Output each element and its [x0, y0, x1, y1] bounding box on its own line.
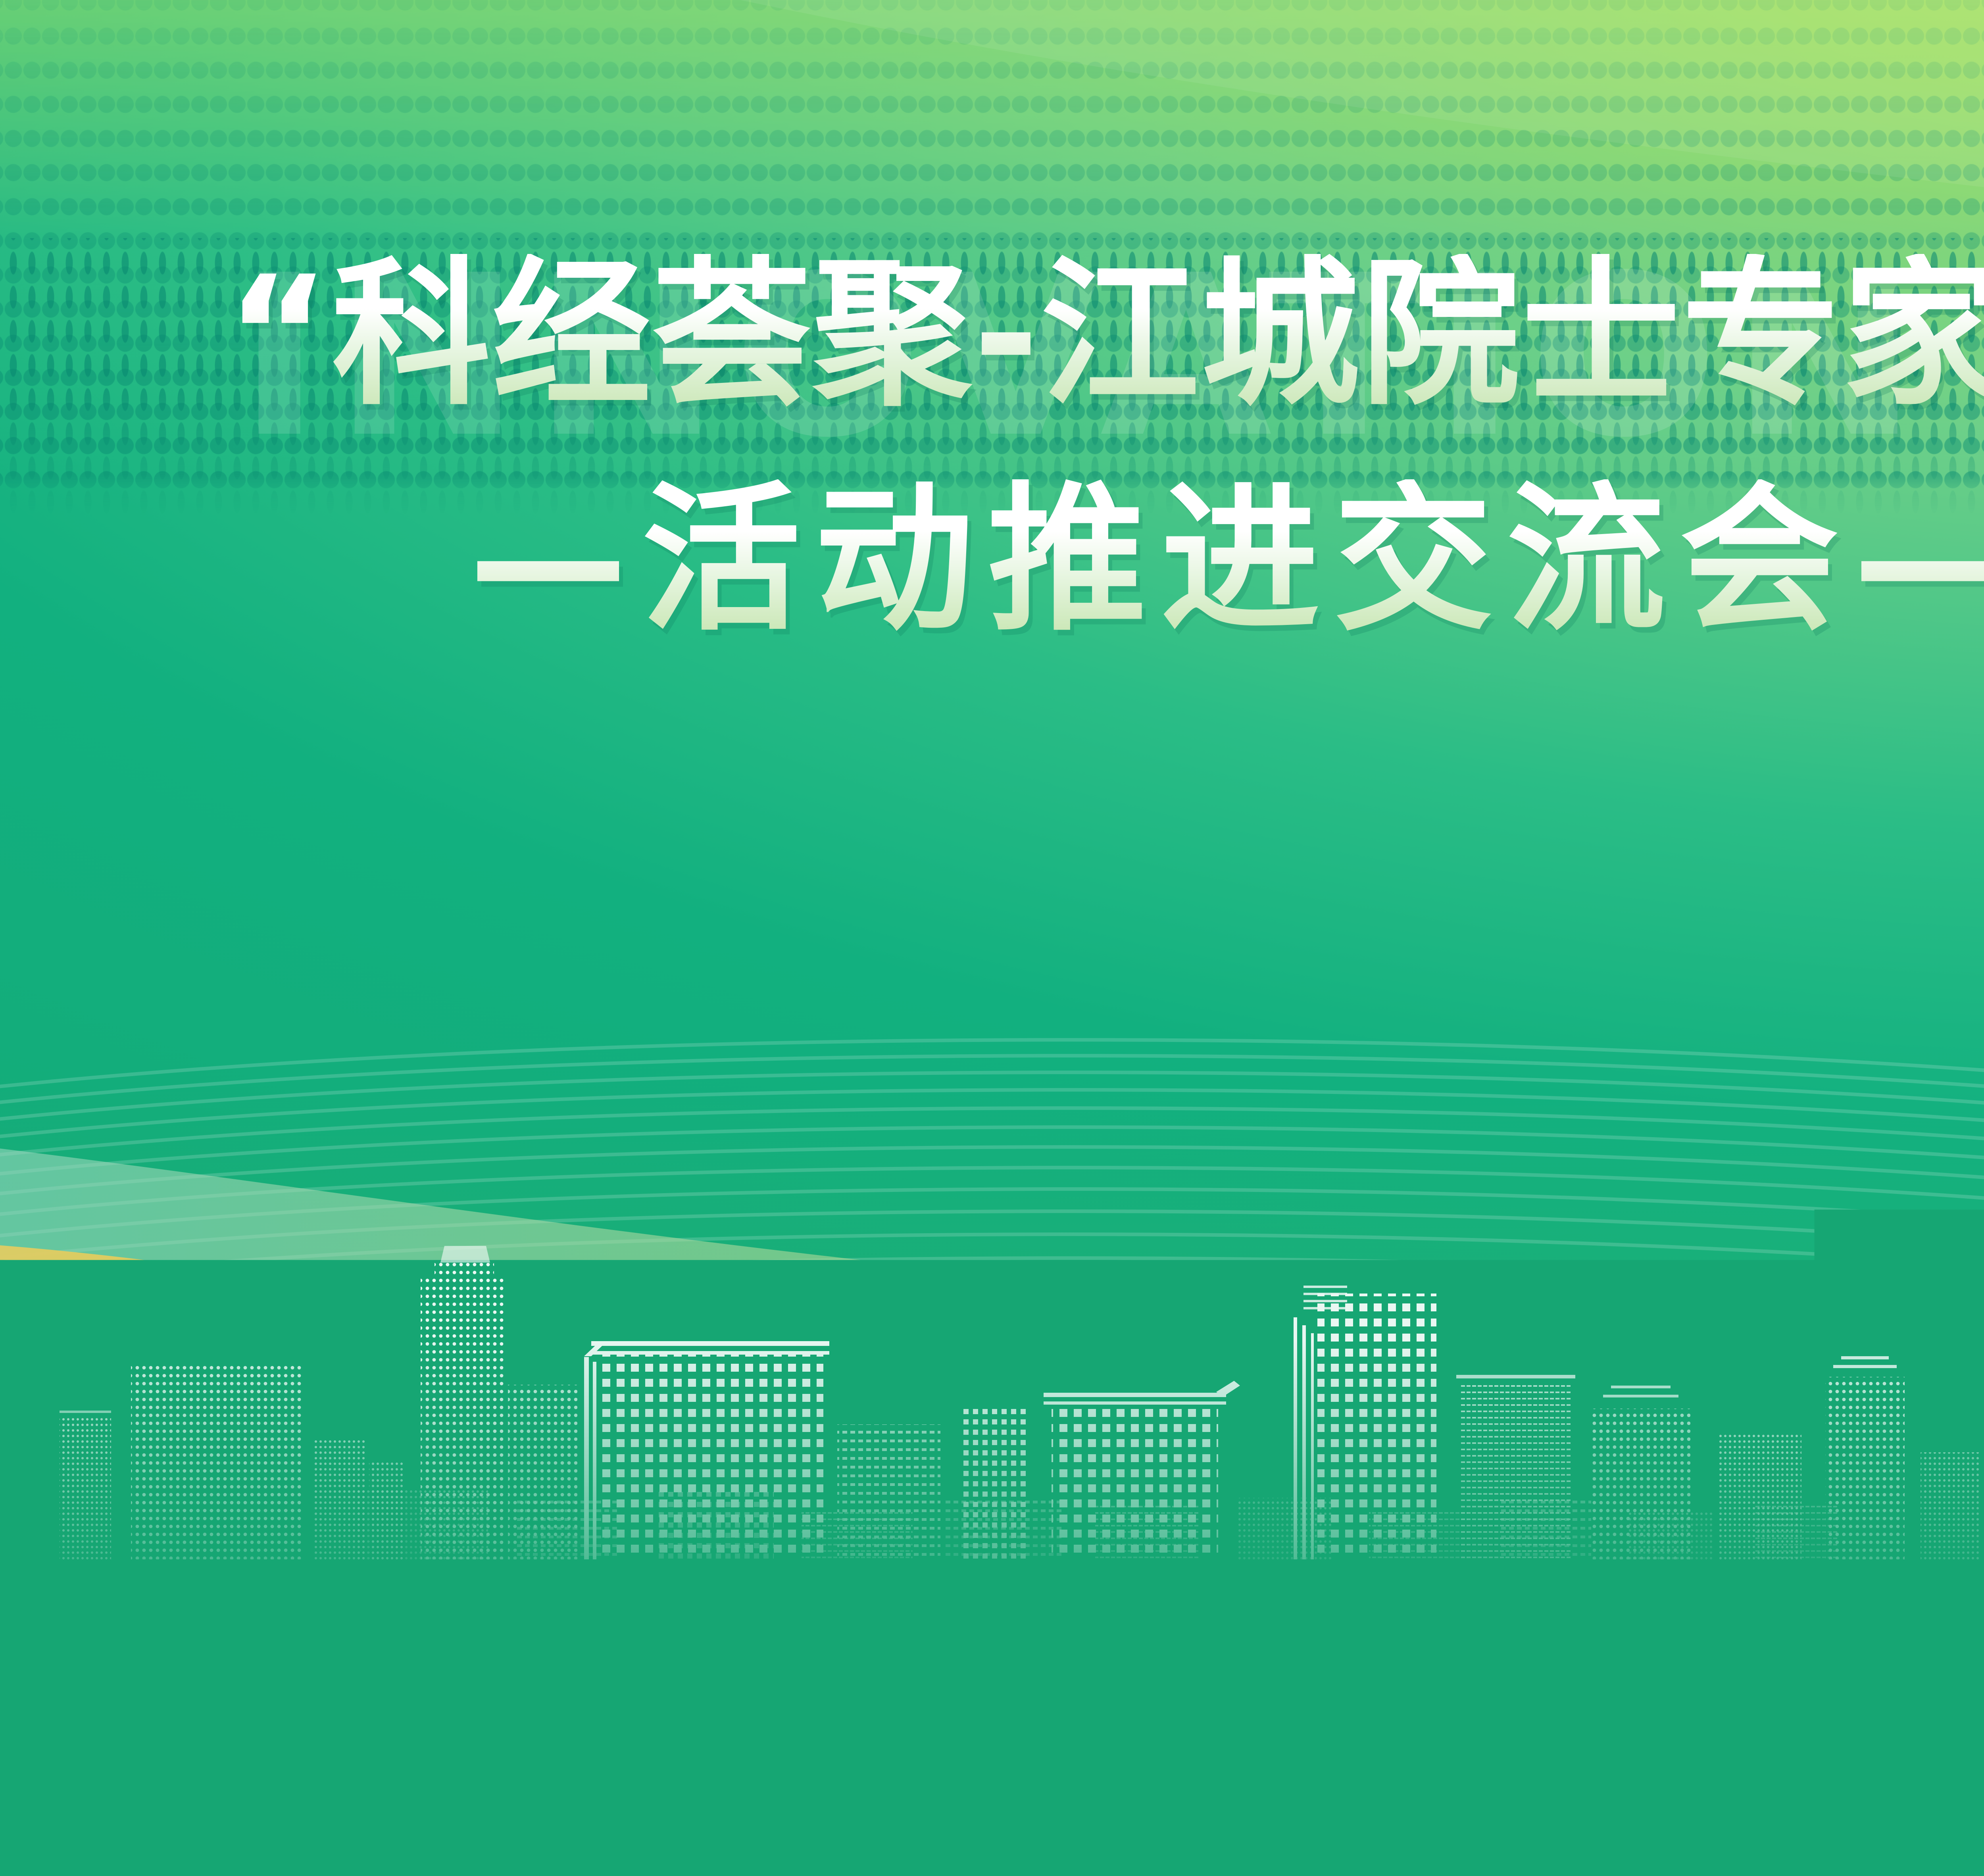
building-far-left — [60, 1411, 111, 1559]
headline-line-2: —活动推进交流会— — [0, 479, 1984, 641]
city-skyline-illustration — [0, 984, 1984, 1559]
building-far-right-c — [1921, 1452, 1984, 1559]
event-date-row: 时间：2024年3月14日 — [0, 1581, 1984, 1667]
building-left-mid — [131, 1365, 302, 1559]
headline-line-1: “科经荟聚-江城院士专家行” — [0, 254, 1984, 416]
event-poster: INNOVATION — [0, 0, 1984, 1876]
event-date-label: 时间：2024年3月14日 — [913, 1581, 1581, 1667]
highlight-wedge-topright — [667, 0, 1984, 246]
headline-block: “科经荟聚-江城院士专家行” —活动推进交流会— — [0, 254, 1984, 641]
